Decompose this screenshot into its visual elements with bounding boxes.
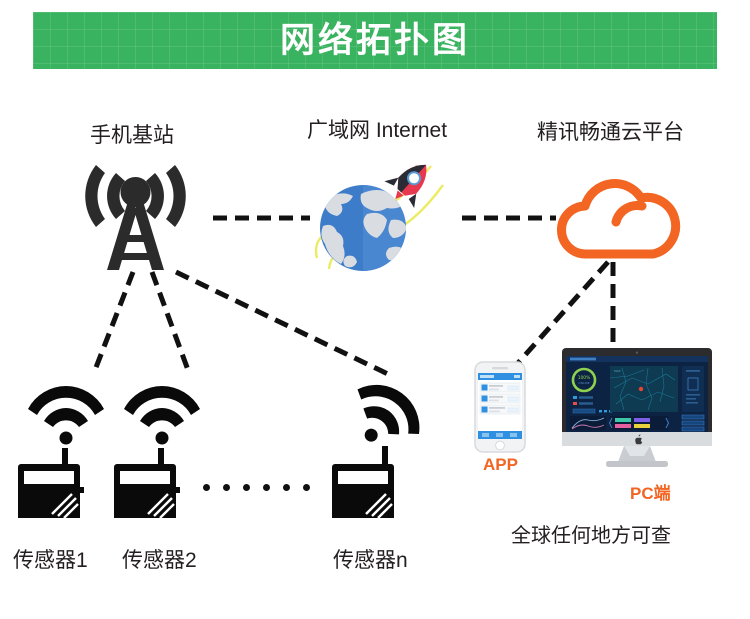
cell-tower-icon: [73, 163, 198, 273]
globe-icon: [305, 150, 465, 275]
topology-diagram: 网络拓扑图 手机基站 广域网 Internet 精讯畅通云平台: [0, 0, 750, 619]
ellipsis-dot: [223, 484, 230, 491]
label-cloud-platform: 精讯畅通云平台: [537, 122, 684, 143]
label-base-station: 手机基站: [90, 125, 174, 146]
ellipsis-dot: [263, 484, 270, 491]
ellipsis-dot: [303, 484, 310, 491]
label-sensor-n: 传感器n: [333, 550, 408, 571]
sensor-device-icon: [328, 368, 433, 518]
smartphone-icon: [474, 361, 526, 453]
link-basestation-sensor1: [95, 272, 133, 370]
link-basestation-sensorn: [176, 272, 390, 375]
label-sensor-2: 传感器2: [122, 550, 197, 571]
ellipsis-dot: [203, 484, 210, 491]
sensor-device-icon: [110, 368, 215, 518]
svg-text:MAP: MAP: [614, 369, 621, 373]
desktop-monitor-icon: 100% ONLINE MAP: [562, 348, 712, 470]
label-app: APP: [483, 456, 518, 473]
label-internet: 广域网 Internet: [307, 120, 447, 141]
svg-text:ONLINE: ONLINE: [578, 381, 589, 385]
cloud-icon: [552, 172, 684, 262]
ellipsis-dot: [243, 484, 250, 491]
sensor-ellipsis-dots: [203, 484, 310, 491]
label-pc: PC端: [630, 485, 671, 502]
footer-note: 全球任何地方可查: [511, 526, 671, 546]
link-basestation-sensor2: [152, 272, 188, 370]
label-sensor-1: 传感器1: [13, 550, 88, 571]
sensor-device-icon: [14, 368, 119, 518]
ellipsis-dot: [283, 484, 290, 491]
